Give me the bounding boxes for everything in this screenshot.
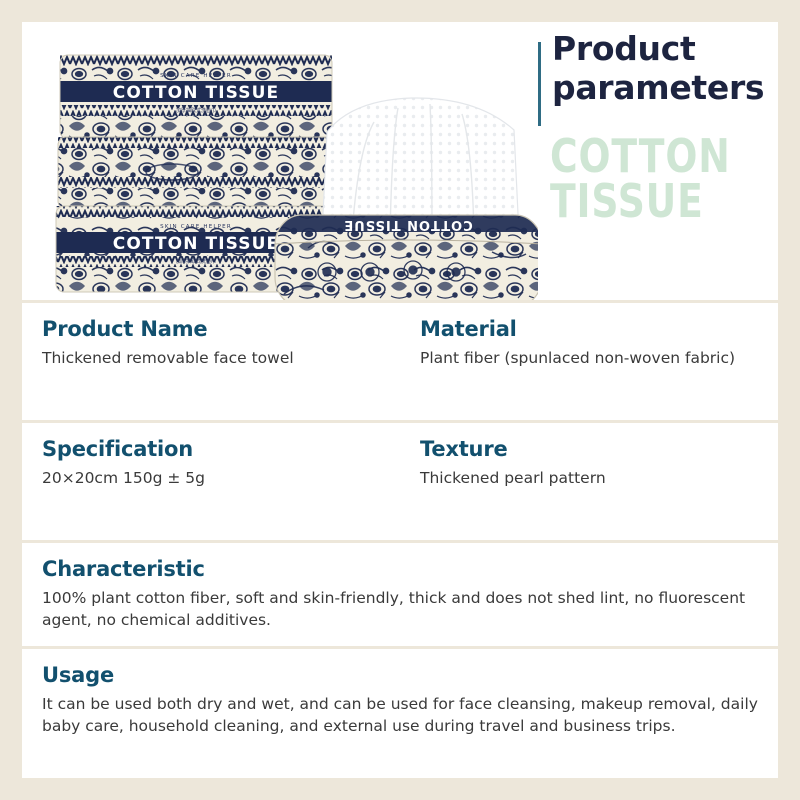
spec-row-specification-texture: Specification 20×20cm 150g ± 5g Texture … <box>22 423 778 543</box>
svg-text:SKIN CARE HELPER: SKIN CARE HELPER <box>160 224 232 230</box>
spec-cell-usage: Usage It can be used both dry and wet, a… <box>22 649 778 749</box>
spec-label-usage: Usage <box>42 663 758 687</box>
product-photo: COTTON TISSUE SKIN CARE HELPER 加厚抽取式洗脸巾 <box>22 22 538 300</box>
spec-row-name-material: Product Name Thickened removable face to… <box>22 303 778 423</box>
product-photo-illustration: COTTON TISSUE SKIN CARE HELPER 加厚抽取式洗脸巾 <box>22 22 538 300</box>
spec-cell-texture: Texture Thickened pearl pattern <box>400 423 778 540</box>
svg-text:加厚抽取式洗脸巾: 加厚抽取式洗脸巾 <box>176 258 216 265</box>
spec-value-specification: 20×20cm 150g ± 5g <box>42 467 380 489</box>
spec-value-usage: It can be used both dry and wet, and can… <box>42 693 758 737</box>
spec-label-texture: Texture <box>420 437 758 461</box>
spec-label-material: Material <box>420 317 758 341</box>
tissue-pouch: COTTON TISSUE <box>275 215 538 300</box>
page-title: Product parameters <box>552 30 784 108</box>
decorative-brand-text: COTTON TISSUE <box>550 134 740 224</box>
product-spec-card: COTTON TISSUE SKIN CARE HELPER 加厚抽取式洗脸巾 <box>22 22 778 778</box>
tissue-pack-top: COTTON TISSUE SKIN CARE HELPER 加厚抽取式洗脸巾 <box>60 55 332 139</box>
svg-text:COTTON TISSUE: COTTON TISSUE <box>343 217 472 232</box>
spec-value-product-name: Thickened removable face towel <box>42 347 380 369</box>
svg-text:SKIN CARE HELPER: SKIN CARE HELPER <box>160 73 232 79</box>
spec-label-product-name: Product Name <box>42 317 380 341</box>
spec-cell-specification: Specification 20×20cm 150g ± 5g <box>22 423 400 540</box>
tissue-pack-middle <box>58 137 334 209</box>
hero-section: COTTON TISSUE SKIN CARE HELPER 加厚抽取式洗脸巾 <box>22 22 778 303</box>
spec-label-specification: Specification <box>42 437 380 461</box>
spec-cell-product-name: Product Name Thickened removable face to… <box>22 303 400 420</box>
spec-value-material: Plant fiber (spunlaced non-woven fabric) <box>420 347 758 369</box>
spec-value-characteristic: 100% plant cotton fiber, soft and skin-f… <box>42 587 758 631</box>
hero-title-block: Product parameters COTTON TISSUE <box>538 22 778 300</box>
spec-cell-material: Material Plant fiber (spunlaced non-wove… <box>400 303 778 420</box>
spec-cell-characteristic: Characteristic 100% plant cotton fiber, … <box>22 543 778 646</box>
spec-value-texture: Thickened pearl pattern <box>420 467 758 489</box>
spec-label-characteristic: Characteristic <box>42 557 758 581</box>
spec-row-characteristic: Characteristic 100% plant cotton fiber, … <box>22 543 778 649</box>
title-accent-bar <box>538 42 541 126</box>
spec-row-usage: Usage It can be used both dry and wet, a… <box>22 649 778 749</box>
svg-text:加厚抽取式洗脸巾: 加厚抽取式洗脸巾 <box>176 107 216 114</box>
svg-text:COTTON TISSUE: COTTON TISSUE <box>113 234 279 254</box>
svg-text:COTTON TISSUE: COTTON TISSUE <box>113 83 279 103</box>
